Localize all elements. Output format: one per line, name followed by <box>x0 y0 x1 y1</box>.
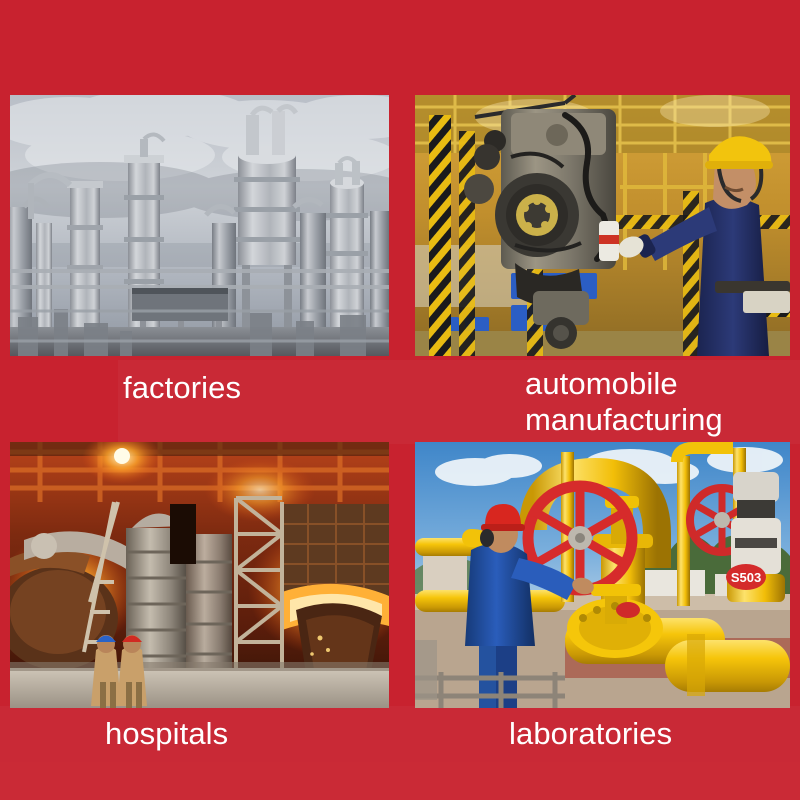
caption-factories: factories <box>123 370 241 406</box>
promo-poster: S503 <box>0 0 800 800</box>
photo-automobile-manufacturing <box>415 95 790 356</box>
valve-tag-label: S503 <box>731 570 761 585</box>
photo-hospitals <box>10 442 389 708</box>
photo-laboratories: S503 <box>415 442 790 708</box>
photo-factories <box>10 95 389 356</box>
caption-laboratories: laboratories <box>509 716 672 752</box>
caption-automobile-manufacturing: automobile manufacturing <box>525 366 723 438</box>
caption-hospitals: hospitals <box>105 716 228 752</box>
